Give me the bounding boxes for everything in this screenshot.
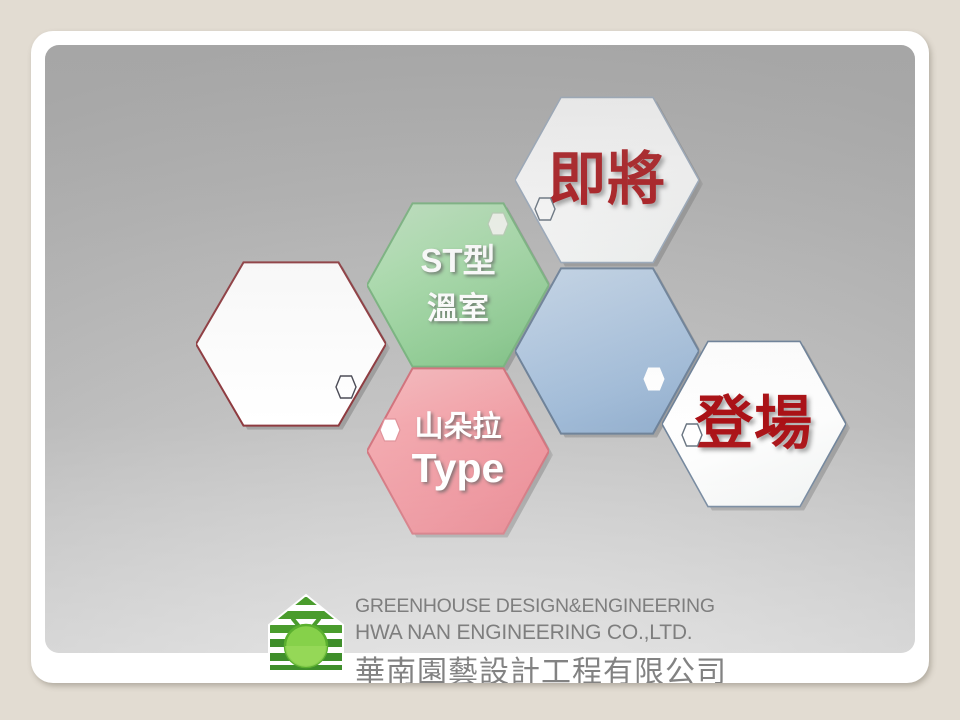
hex-marker-icon	[534, 197, 556, 221]
hex-marker-icon	[379, 418, 401, 442]
slide-canvas: ST型 溫室 即將	[45, 45, 915, 653]
logo-line-english-2: HWA NAN ENGINEERING CO.,LTD.	[355, 621, 692, 645]
hex-coming-soon-label: 即將	[548, 150, 666, 211]
hex-sandora-line1: 山朵拉	[414, 412, 501, 442]
company-logo-block: GREENHOUSE DESIGN&ENGINEERING HWA NAN EN…	[263, 587, 823, 683]
hex-sandora-line2: Type	[412, 447, 505, 490]
slide-frame: ST型 溫室 即將	[31, 31, 929, 683]
hex-st-line2: 溫室	[427, 293, 489, 326]
hex-marker-icon	[487, 212, 509, 236]
hex-marker-icon	[681, 423, 703, 447]
logo-line-english-1: GREENHOUSE DESIGN&ENGINEERING	[355, 595, 715, 618]
hex-marker-icon	[643, 367, 665, 391]
hex-debut-label: 登場	[695, 394, 813, 455]
hex-st-line1: ST型	[420, 244, 495, 279]
slide-stage: ST型 溫室 即將	[0, 0, 960, 720]
hex-marker-icon	[335, 375, 357, 399]
logo-line-chinese: 華南園藝設計工程有限公司	[355, 647, 727, 683]
greenhouse-logo-icon	[263, 591, 349, 675]
